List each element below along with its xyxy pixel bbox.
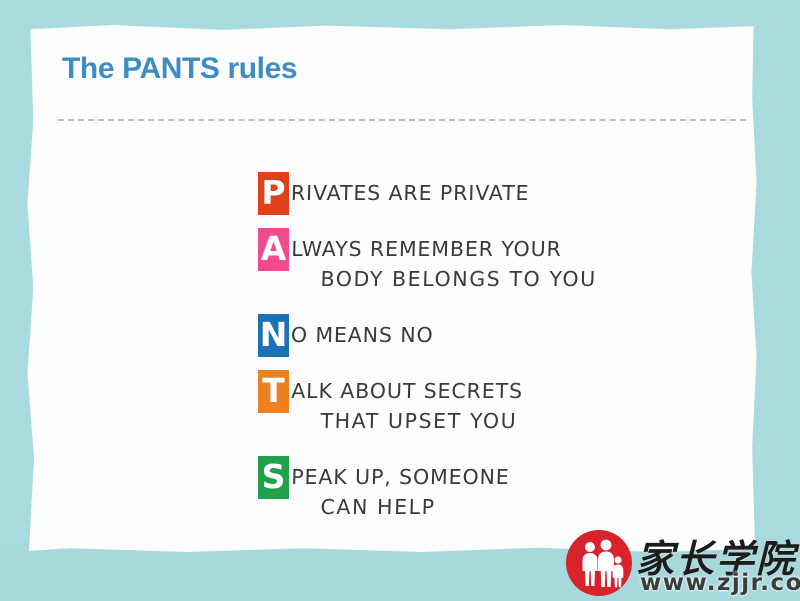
rule-text-n: O MEANS NO bbox=[291, 314, 679, 350]
rule-line-2: CAN HELP bbox=[290, 492, 678, 522]
list-item: A LWAYS REMEMBER YOURBODY BELONGS TO YOU bbox=[258, 228, 678, 294]
rule-text-s: PEAK UP, SOMEONECAN HELP bbox=[290, 456, 679, 522]
list-item: N O MEANS NO bbox=[258, 314, 678, 350]
letter-tile-t: T bbox=[258, 370, 289, 413]
rule-line-1: ALK ABOUT SECRETS bbox=[291, 379, 523, 403]
rule-text-a: LWAYS REMEMBER YOURBODY BELONGS TO YOU bbox=[290, 228, 679, 294]
pants-rules-list: P RIVATES ARE PRIVATE A LWAYS REMEMBER Y… bbox=[258, 172, 678, 522]
rule-line-1: LWAYS REMEMBER YOUR bbox=[291, 237, 562, 261]
dashed-divider bbox=[58, 119, 746, 121]
rule-text-p: RIVATES ARE PRIVATE bbox=[291, 172, 679, 208]
family-circle-logo-icon bbox=[566, 530, 632, 596]
rule-line-1: RIVATES ARE PRIVATE bbox=[291, 181, 530, 205]
page-title: The PANTS rules bbox=[62, 52, 297, 86]
rule-line-2: THAT UPSET YOU bbox=[290, 406, 678, 436]
list-item: S PEAK UP, SOMEONECAN HELP bbox=[258, 456, 678, 522]
list-item: T ALK ABOUT SECRETSTHAT UPSET YOU bbox=[258, 370, 678, 436]
letter-tile-p: P bbox=[258, 172, 289, 215]
rule-text-t: ALK ABOUT SECRETSTHAT UPSET YOU bbox=[290, 370, 679, 436]
rule-line-1: PEAK UP, SOMEONE bbox=[291, 465, 510, 489]
rule-line-2: BODY BELONGS TO YOU bbox=[290, 264, 678, 294]
watermark-url: www.zjjr.com bbox=[640, 570, 800, 596]
slide-canvas: The PANTS rules P RIVATES ARE PRIVATE A … bbox=[0, 0, 800, 601]
letter-tile-s: S bbox=[258, 456, 289, 499]
letter-tile-a: A bbox=[258, 228, 289, 271]
list-item: P RIVATES ARE PRIVATE bbox=[258, 172, 678, 208]
rule-line-1: O MEANS NO bbox=[291, 323, 434, 347]
letter-tile-n: N bbox=[258, 314, 289, 357]
watermark: 家长学院 www.zjjr.com bbox=[566, 528, 800, 601]
